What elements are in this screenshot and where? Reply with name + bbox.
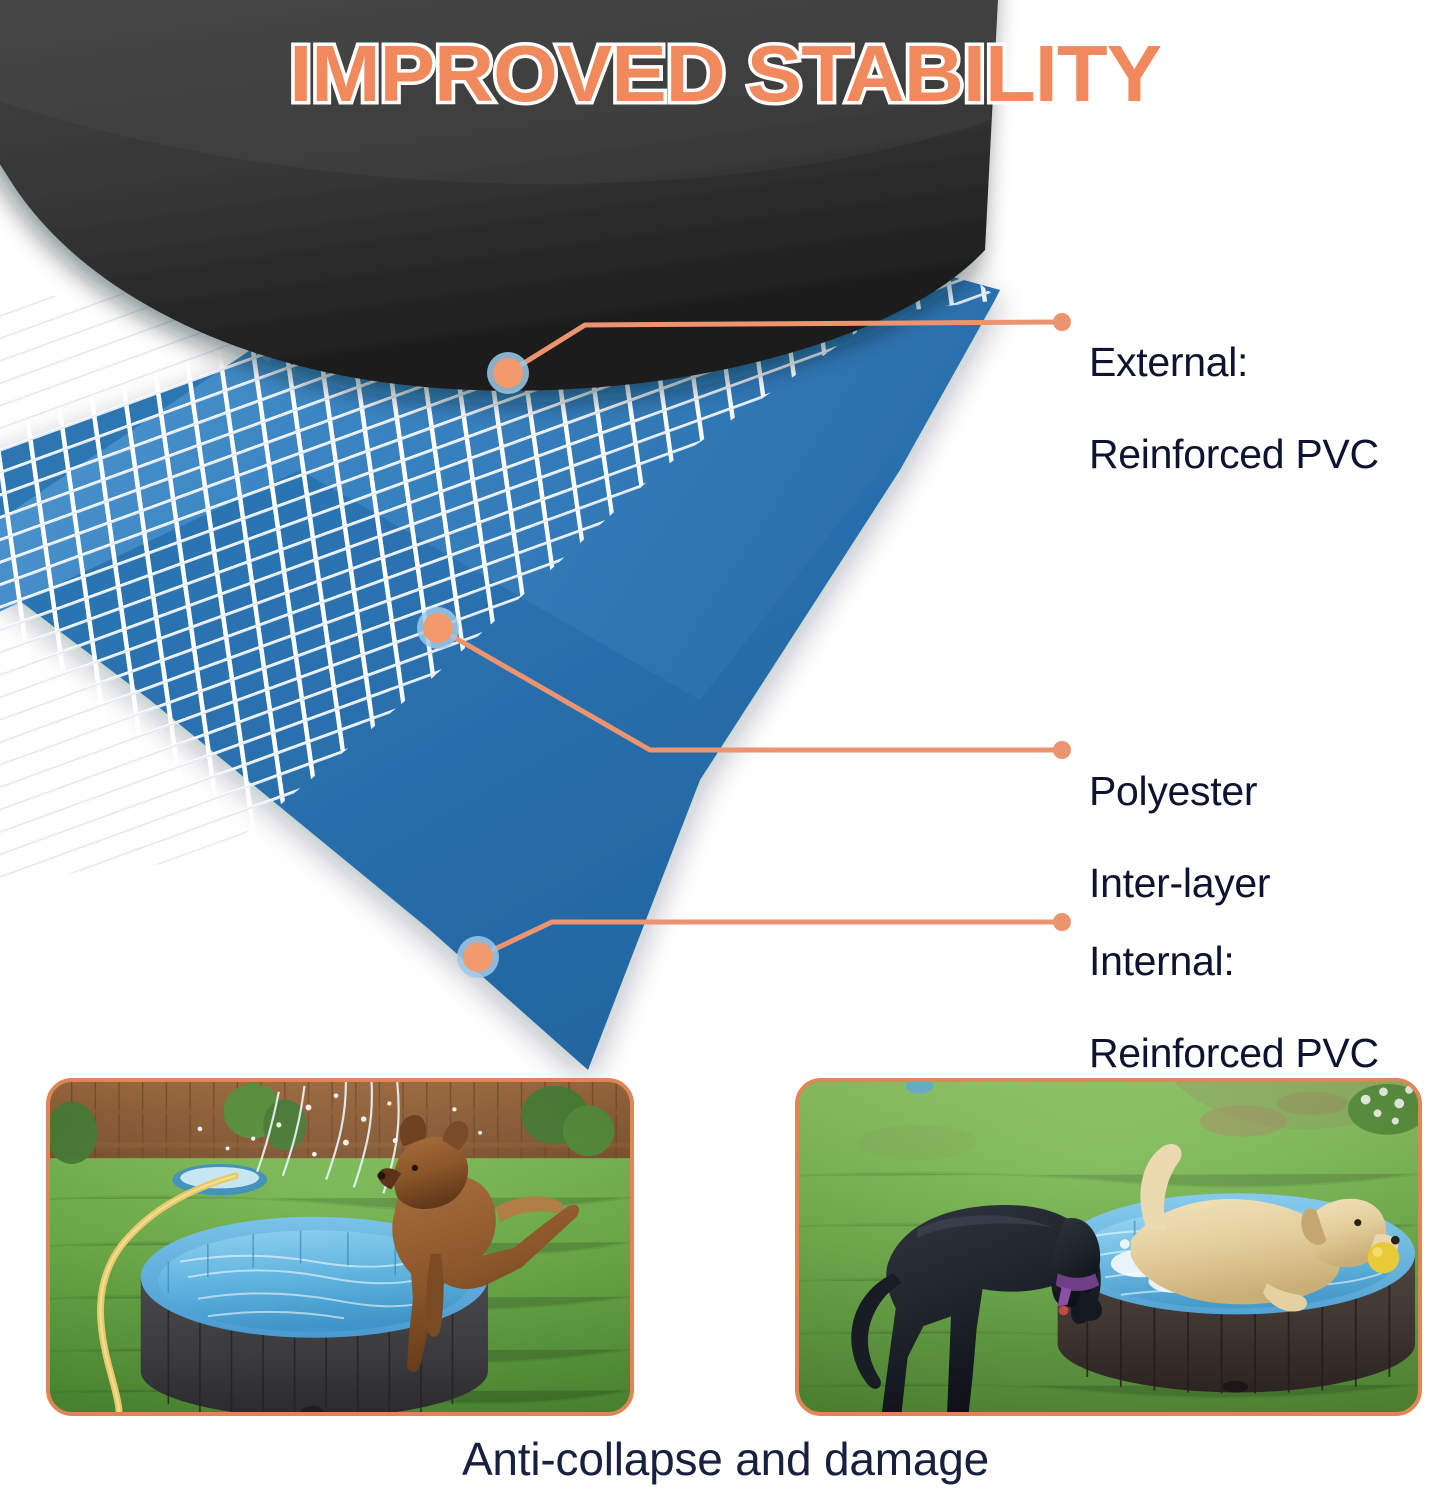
caption: Anti-collapse and damage	[0, 1432, 1451, 1486]
photo-left-image	[50, 1082, 630, 1412]
callout-label-external: External: Reinforced PVC	[1089, 294, 1379, 478]
callout-external-line1: External:	[1089, 339, 1248, 385]
infographic-page: IMPROVED STABILITY External: Reinforced …	[0, 0, 1451, 1500]
photo-left	[46, 1078, 634, 1416]
callout-label-internal: Internal: Reinforced PVC	[1089, 893, 1379, 1077]
photo-row	[0, 1078, 1451, 1418]
callout-external-line2: Reinforced PVC	[1089, 431, 1379, 477]
callout-internal-line1: Internal:	[1089, 938, 1234, 984]
photo-right	[795, 1078, 1422, 1416]
callout-internal-line2: Reinforced PVC	[1089, 1030, 1379, 1076]
callout-label-polyester: Polyester Inter-layer	[1089, 723, 1270, 907]
callout-polyester-line1: Polyester	[1089, 768, 1257, 814]
photo-right-image	[799, 1082, 1418, 1412]
connector-label-dots	[1053, 313, 1071, 931]
